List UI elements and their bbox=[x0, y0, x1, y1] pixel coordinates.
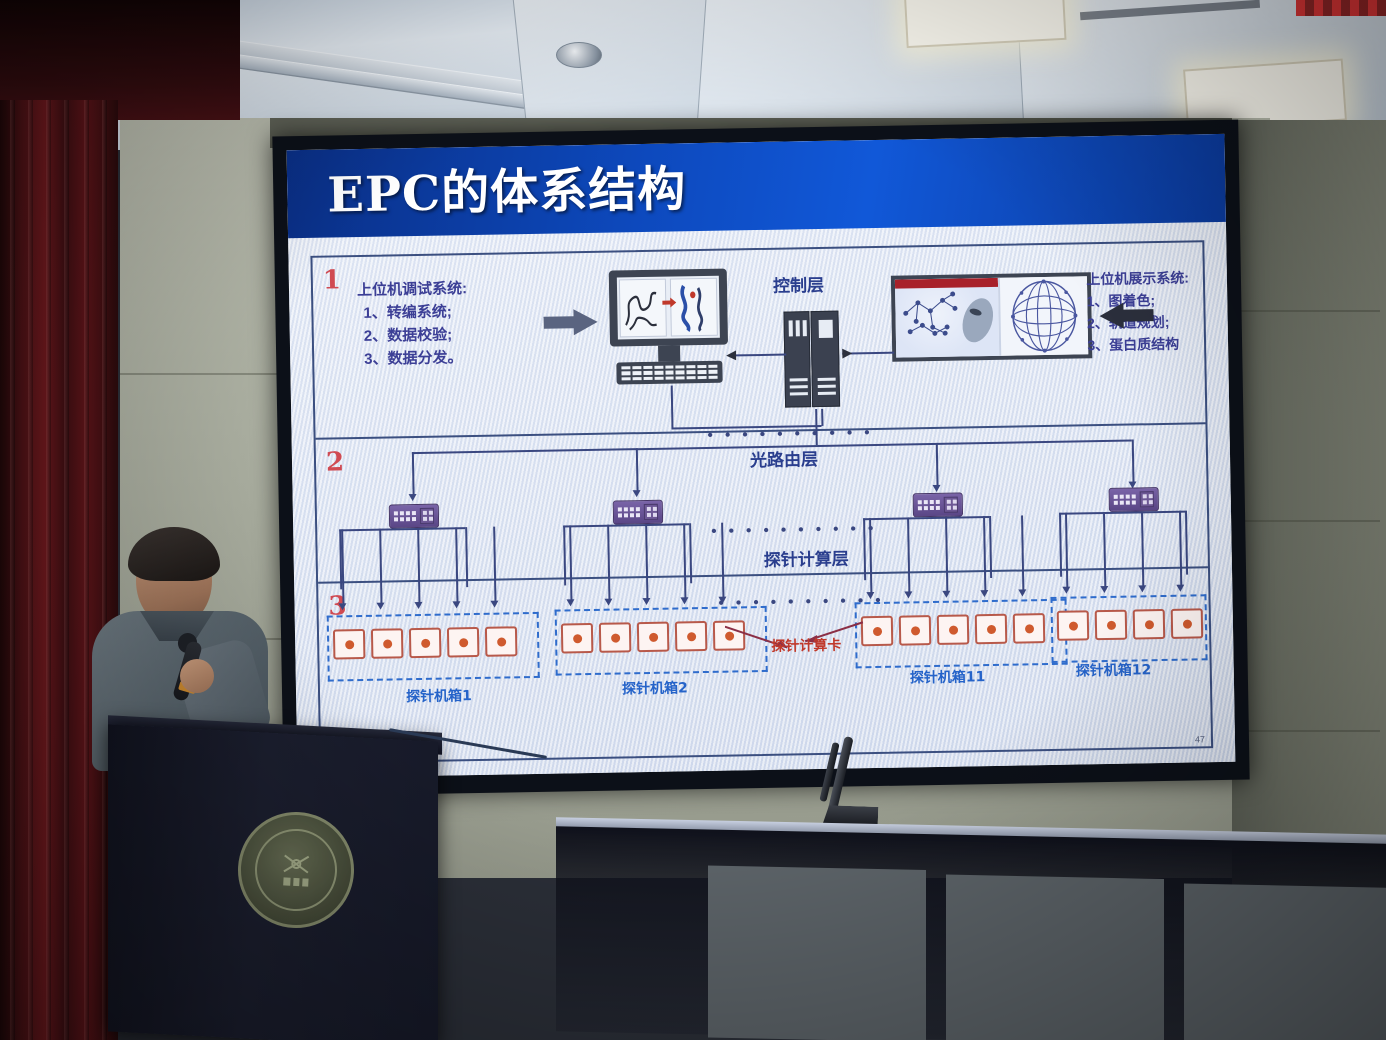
section-number-2: 2 bbox=[326, 447, 345, 477]
probe-compute-card bbox=[899, 615, 932, 646]
presenter-hair bbox=[128, 527, 220, 581]
arrow-right-icon bbox=[543, 307, 600, 338]
probe-card-annotation: 探针计算卡 bbox=[771, 635, 841, 656]
presentation-slide: EPC的体系结构 1 2 3 上位机调试系统: 1、转编系统; 2、数据校验; … bbox=[287, 134, 1236, 778]
probe-compute-card bbox=[1171, 608, 1204, 639]
control-layer-label: 控制层 bbox=[773, 271, 824, 297]
small-arrow-icon bbox=[662, 297, 676, 307]
chassis-caption-2: 探针机箱2 bbox=[622, 677, 688, 698]
chassis-caption-11: 探针机箱11 bbox=[910, 666, 986, 687]
projection-screen: EPC的体系结构 1 2 3 上位机调试系统: 1、转编系统; 2、数据校验; … bbox=[287, 134, 1236, 778]
arrow-left-icon bbox=[1097, 301, 1153, 330]
link-line bbox=[728, 354, 786, 357]
visualization-picture bbox=[891, 272, 1092, 361]
chassis-caption-1: 探针机箱1 bbox=[406, 685, 472, 706]
section-number-1: 1 bbox=[323, 265, 342, 295]
seal-emblem bbox=[238, 812, 354, 928]
projection-screen-frame: EPC的体系结构 1 2 3 上位机调试系统: 1、转编系统; 2、数据校验; … bbox=[272, 120, 1249, 797]
probe-compute-card bbox=[599, 622, 632, 653]
probe-compute-card bbox=[447, 627, 480, 658]
chassis-caption-12: 探针机箱12 bbox=[1076, 659, 1152, 680]
slide-page-number: 47 bbox=[1195, 734, 1205, 744]
table-panel bbox=[1184, 883, 1386, 1040]
host-debug-text-block: 上位机调试系统: 1、转编系统; 2、数据校验; 3、数据分发。 bbox=[357, 277, 469, 371]
host-debug-item-2: 2、数据校验; bbox=[358, 323, 468, 348]
optical-switch bbox=[1109, 487, 1159, 512]
table-panel bbox=[708, 865, 926, 1040]
host-debug-heading: 上位机调试系统: bbox=[357, 277, 467, 302]
conference-table bbox=[556, 826, 1386, 1040]
host-debug-item-1: 1、转编系统; bbox=[357, 300, 467, 325]
probe-compute-card bbox=[1095, 610, 1128, 641]
probe-compute-card bbox=[409, 628, 442, 659]
optical-routing-layer-label: 光路由层 bbox=[750, 445, 818, 471]
wall-right bbox=[1232, 120, 1386, 910]
probe-compute-layer-label: 探针计算层 bbox=[764, 544, 849, 570]
probe-compute-card bbox=[637, 622, 670, 653]
control-server-rack bbox=[783, 311, 843, 410]
ellipsis-switch-row: • • • • • • • • • • bbox=[711, 520, 877, 540]
ceiling-red-strip bbox=[1296, 0, 1386, 16]
optical-switch bbox=[913, 492, 963, 517]
probe-compute-card bbox=[937, 614, 970, 645]
ceiling-light bbox=[903, 0, 1066, 48]
host-debug-item-3: 3、数据分发。 bbox=[358, 346, 468, 371]
presenter-hand bbox=[180, 659, 214, 693]
optical-switch bbox=[613, 500, 663, 525]
probe-compute-card bbox=[333, 629, 366, 660]
probe-compute-card bbox=[1013, 613, 1046, 644]
probe-compute-card bbox=[675, 621, 708, 652]
probe-compute-card bbox=[1133, 609, 1166, 640]
downlight-icon bbox=[556, 42, 602, 68]
slide-title: EPC的体系结构 bbox=[327, 149, 687, 225]
probe-compute-card bbox=[1057, 610, 1090, 641]
probe-compute-card bbox=[561, 623, 594, 654]
university-seal bbox=[235, 809, 357, 931]
probe-compute-card bbox=[371, 628, 404, 659]
ellipsis-top: • • • • • • • • • • bbox=[707, 424, 873, 444]
probe-compute-card bbox=[975, 614, 1008, 645]
host-display-item-3: 3、蛋白质结构 bbox=[1087, 332, 1190, 356]
lecture-hall-scene: EPC的体系结构 1 2 3 上位机调试系统: 1、转编系统; 2、数据校验; … bbox=[0, 0, 1386, 1040]
probe-compute-card bbox=[485, 626, 518, 657]
optical-switch bbox=[389, 504, 439, 529]
table-panel bbox=[946, 874, 1164, 1040]
host-display-heading: 上位机展示系统: bbox=[1086, 267, 1189, 291]
slide-body: 1 2 3 上位机调试系统: 1、转编系统; 2、数据校验; 3、数据分发。 bbox=[310, 240, 1213, 764]
